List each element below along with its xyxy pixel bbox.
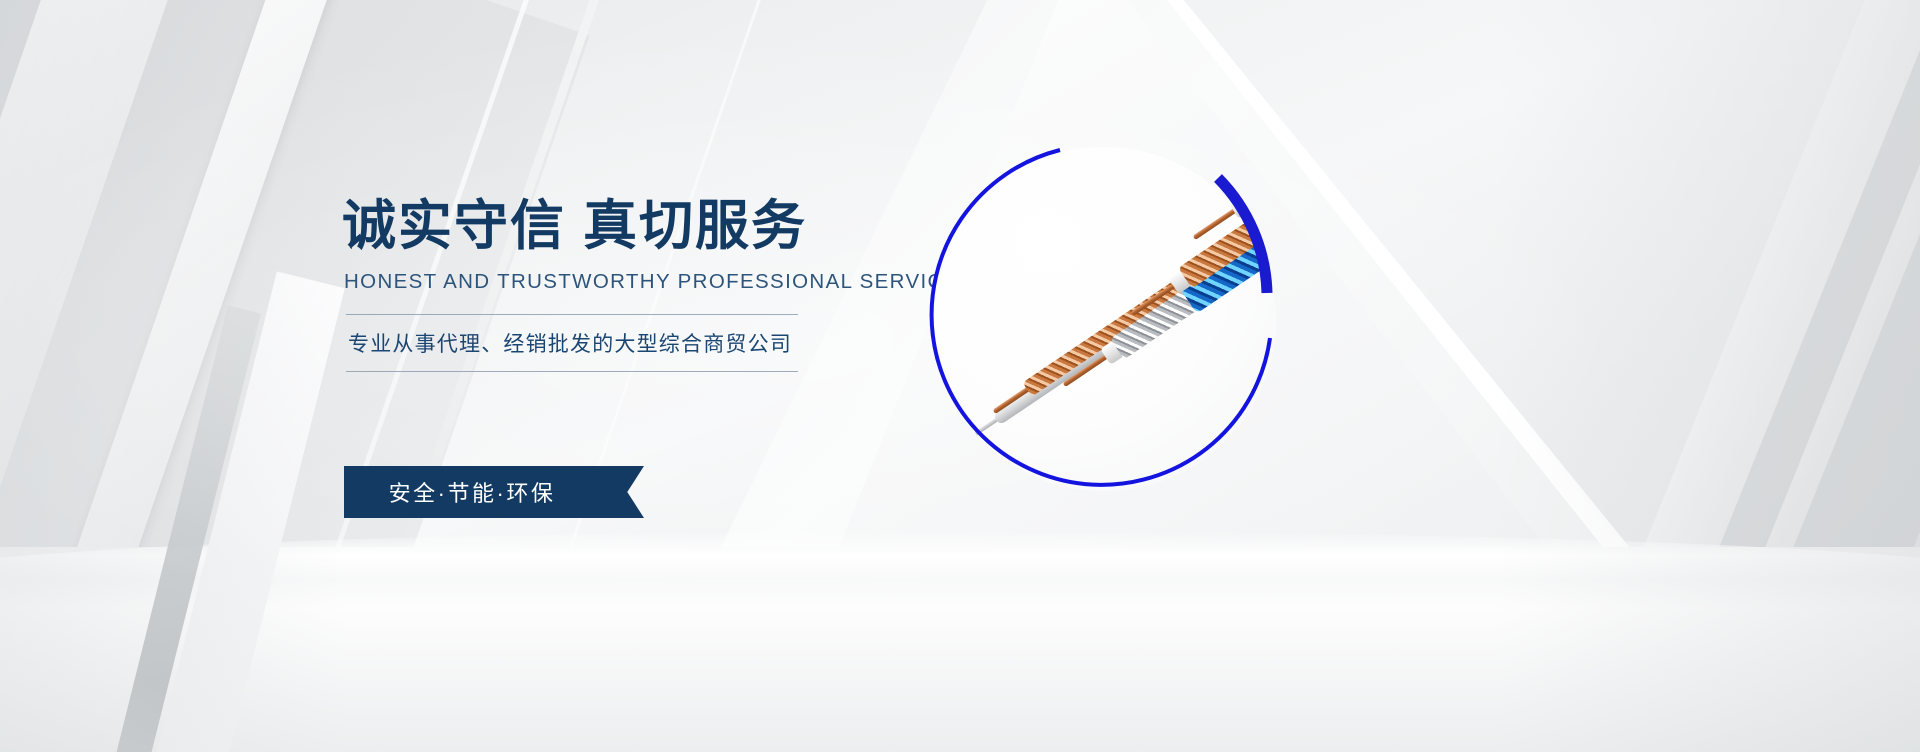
page-title: 诚实守信 真切服务 xyxy=(342,196,862,256)
product-photo: |∩|∩―∑ xyxy=(932,147,1276,491)
hero-banner: 诚实守信 真切服务 HONEST AND TRUSTWORTHY PROFESS… xyxy=(0,0,1920,752)
product-medallion: |∩|∩―∑ xyxy=(918,133,1290,505)
headline-block: 诚实守信 真切服务 HONEST AND TRUSTWORTHY PROFESS… xyxy=(342,196,862,372)
page-description: 专业从事代理、经销批发的大型综合商贸公司 xyxy=(348,328,862,358)
feature-tag-label: 安全·节能·环保 xyxy=(389,476,556,508)
divider-bottom xyxy=(346,371,798,372)
feature-tag: 安全·节能·环保 xyxy=(344,466,600,518)
page-subtitle: HONEST AND TRUSTWORTHY PROFESSIONAL SERV… xyxy=(344,270,862,294)
divider-top xyxy=(346,314,798,315)
